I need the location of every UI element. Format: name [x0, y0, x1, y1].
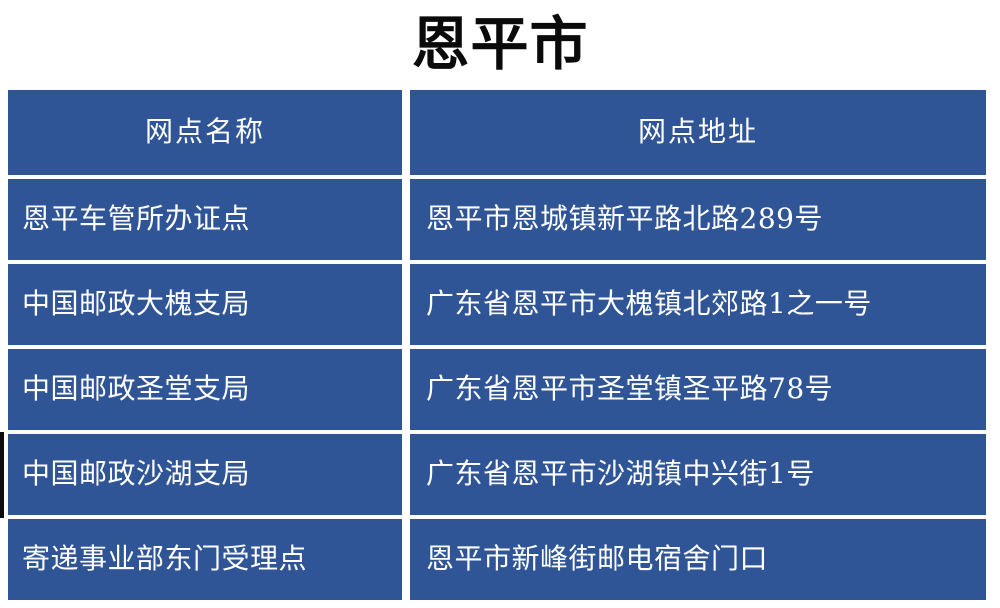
outlet-address-text: 广东省恩平市大槐镇北郊路1之一号 [426, 289, 872, 320]
table-row: 中国邮政圣堂支局 广东省恩平市圣堂镇圣平路78号 [8, 349, 986, 430]
table-header-row: 网点名称 网点地址 [8, 90, 986, 175]
cell-outlet-name: 中国邮政大槐支局 [8, 264, 402, 345]
outlets-table: 网点名称 网点地址 恩平车管所办证点 恩平市恩城镇新平路北路289号 中国邮政大… [8, 90, 986, 605]
outlet-name-text: 中国邮政圣堂支局 [22, 374, 250, 405]
outlet-name-text: 恩平车管所办证点 [22, 204, 250, 235]
outlet-address-text: 恩平市恩城镇新平路北路289号 [426, 204, 823, 235]
page-title-bar: 恩平市 [0, 0, 1000, 88]
cell-outlet-address: 广东省恩平市圣堂镇圣平路78号 [410, 349, 986, 430]
table-row: 寄递事业部东门受理点 恩平市新峰街邮电宿舍门口 [8, 519, 986, 600]
cell-outlet-address: 广东省恩平市沙湖镇中兴街1号 [410, 434, 986, 515]
table-row: 中国邮政沙湖支局 广东省恩平市沙湖镇中兴街1号 [8, 434, 986, 515]
outlet-address-text: 广东省恩平市圣堂镇圣平路78号 [426, 374, 833, 405]
outlet-name-text: 中国邮政大槐支局 [22, 289, 250, 320]
column-header-address-label: 网点地址 [638, 117, 758, 148]
column-header-name: 网点名称 [8, 90, 402, 175]
page-root: 恩平市 网点名称 网点地址 恩平车管所办证点 恩平市恩城镇新平路北路289号 中… [0, 0, 1000, 608]
table-row: 中国邮政大槐支局 广东省恩平市大槐镇北郊路1之一号 [8, 264, 986, 345]
cell-outlet-name: 寄递事业部东门受理点 [8, 519, 402, 600]
table-row: 恩平车管所办证点 恩平市恩城镇新平路北路289号 [8, 179, 986, 260]
cell-outlet-name: 恩平车管所办证点 [8, 179, 402, 260]
cell-outlet-address: 恩平市新峰街邮电宿舍门口 [410, 519, 986, 600]
cell-outlet-name: 中国邮政沙湖支局 [8, 434, 402, 515]
page-title: 恩平市 [411, 15, 588, 73]
column-header-address: 网点地址 [410, 90, 986, 175]
outlet-address-text: 恩平市新峰街邮电宿舍门口 [426, 544, 768, 575]
column-header-name-label: 网点名称 [145, 117, 265, 148]
cell-outlet-name: 中国邮政圣堂支局 [8, 349, 402, 430]
cell-outlet-address: 广东省恩平市大槐镇北郊路1之一号 [410, 264, 986, 345]
scan-edge-artifact [0, 432, 4, 518]
outlet-name-text: 中国邮政沙湖支局 [22, 459, 250, 490]
outlet-name-text: 寄递事业部东门受理点 [22, 544, 307, 575]
cell-outlet-address: 恩平市恩城镇新平路北路289号 [410, 179, 986, 260]
outlet-address-text: 广东省恩平市沙湖镇中兴街1号 [426, 459, 815, 490]
